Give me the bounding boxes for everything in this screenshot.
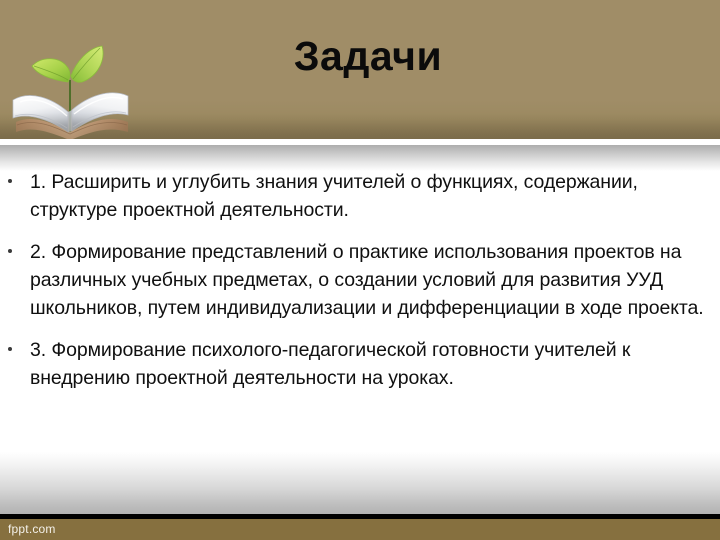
footer-bar [0, 519, 720, 540]
bullet-item-3: 3. Формирование психолого-педагогической… [0, 336, 706, 392]
bullet-text: 2. Формирование представлений о практике… [30, 241, 704, 319]
bullet-item-2: 2. Формирование представлений о практике… [0, 238, 706, 322]
slide-header-band: Задачи [0, 0, 720, 139]
bullet-dot-icon [8, 179, 12, 183]
bullet-text: 1. Расширить и углубить знания учителей … [30, 171, 638, 221]
bullet-text: 3. Формирование психолого-педагогической… [30, 339, 630, 389]
slide-body: 1. Расширить и углубить знания учителей … [0, 168, 720, 488]
bottom-gradient [0, 452, 720, 514]
presentation-slide: Задачи 1. Расширить и углубить знания уч… [0, 0, 720, 540]
bullet-list: 1. Расширить и углубить знания учителей … [0, 168, 720, 392]
footer-watermark: fppt.com [8, 522, 56, 537]
bullet-dot-icon [8, 249, 12, 253]
bullet-item-1: 1. Расширить и углубить знания учителей … [0, 168, 706, 224]
slide-title: Задачи [0, 36, 720, 77]
bullet-dot-icon [8, 347, 12, 351]
